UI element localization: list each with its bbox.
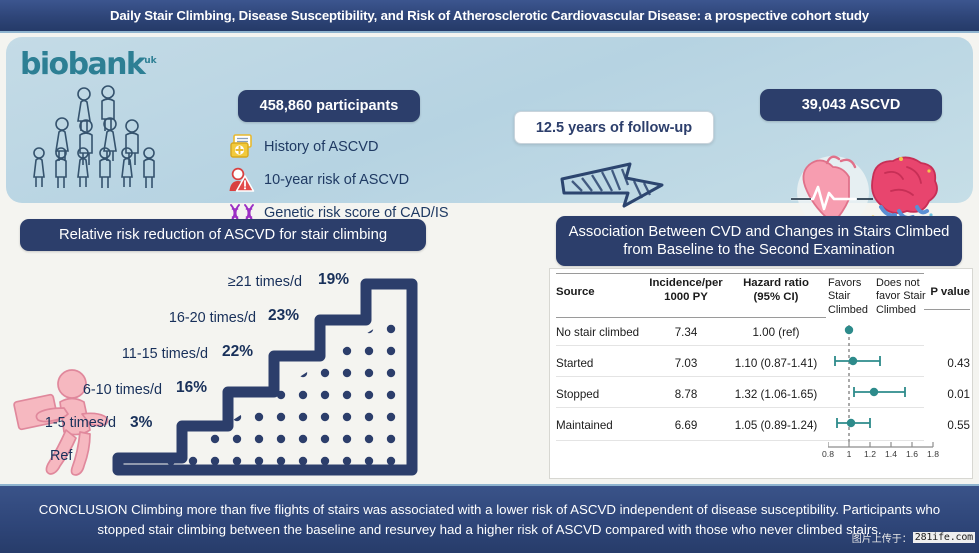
stair-climbing-chart-panel: Ref 1-5 times/d 6-10 times/d 11-15 times… (6, 208, 534, 480)
column-header-hazard-line1: Hazard ratio (724, 277, 828, 291)
axis-tick-1: 1 (847, 449, 852, 459)
column-header-hazard-ratio: Hazard ratio (95% CI) (724, 277, 828, 305)
column-header-incidence-line2: 1000 PY (648, 291, 724, 305)
notfavors-line1: Does not (876, 277, 926, 290)
axis-tick-4: 1.6 (906, 449, 918, 459)
cell-source: Started (556, 357, 648, 370)
forest-plot (828, 325, 938, 453)
column-header-forest-direction: Favors Stair Climbed Does not favor Stai… (828, 277, 924, 327)
column-header-pvalue: P value (924, 286, 970, 300)
followup-duration-badge: 12.5 years of follow-up (514, 111, 714, 144)
watermark-site-text: 281ife.com (913, 532, 975, 543)
list-item-label: History of ASCVD (264, 139, 378, 155)
page-title: Daily Stair Climbing, Disease Susceptibi… (110, 8, 869, 23)
cell-incidence: 7.03 (648, 357, 724, 370)
cell-source: Stopped (556, 388, 648, 401)
column-header-incidence-line1: Incidence/per (648, 277, 724, 291)
step-value-3: 22% (222, 343, 253, 361)
step-label-ref: Ref (50, 448, 120, 464)
list-item-label: 10-year risk of ASCVD (264, 172, 409, 188)
ascvd-events-badge: 39,043 ASCVD (760, 89, 942, 121)
forest-plot-table-panel: Source Incidence/per 1000 PY Hazard rati… (549, 268, 973, 479)
axis-tick-3: 1.4 (885, 449, 897, 459)
page-title-bar: Daily Stair Climbing, Disease Susceptibi… (0, 0, 979, 33)
forest-marker-maintained (847, 419, 855, 427)
favors-line1: Favors (828, 277, 873, 290)
forest-marker-reference (845, 326, 853, 334)
favors-stair-climbed-label: Favors Stair Climbed (828, 277, 873, 317)
favors-line2: Stair (828, 290, 873, 303)
list-item: 10-year risk of ASCVD (228, 165, 508, 195)
table-header-rule (556, 317, 826, 318)
cell-source: Maintained (556, 419, 648, 432)
cell-hazard-ratio: 1.10 (0.87-1.41) (724, 357, 828, 370)
column-header-hazard-line2: (95% CI) (724, 291, 828, 305)
step-value-5: 19% (318, 271, 349, 289)
cell-incidence: 7.34 (648, 326, 724, 339)
right-arrow-icon (558, 157, 670, 213)
column-header-incidence: Incidence/per 1000 PY (648, 277, 724, 305)
biobank-logo-text: biobank (20, 47, 144, 82)
notfavors-line2: favor Stair (876, 290, 926, 303)
step-label-3: 11-15 times/d (74, 346, 208, 362)
axis-tick-0: 0.8 (822, 449, 834, 459)
watermark: 图片上传于： 281ife.com (852, 530, 975, 545)
forest-axis (828, 442, 933, 447)
cell-incidence: 8.78 (648, 388, 724, 401)
conclusion-banner: CONCLUSION Climbing more than five fligh… (0, 484, 979, 553)
biobank-logo-sup: uk (144, 56, 156, 66)
step-label-2: 6-10 times/d (28, 382, 162, 398)
person-risk-warning-icon (228, 167, 258, 193)
step-value-2: 16% (176, 379, 207, 397)
step-label-1: 1-5 times/d (8, 415, 116, 431)
biobank-logo: biobankuk (20, 47, 185, 83)
participants-count-badge: 458,860 participants (238, 90, 420, 122)
step-value-4: 23% (268, 307, 299, 325)
does-not-favor-stair-climbed-label: Does not favor Stair Climbed (876, 277, 926, 317)
watermark-cn-text: 图片上传于： (852, 530, 912, 545)
right-panel-heading: Association Between CVD and Changes in S… (556, 216, 962, 266)
hazard-ratio-table: Source Incidence/per 1000 PY Hazard rati… (550, 269, 972, 478)
cell-hazard-ratio: 1.32 (1.06-1.65) (724, 388, 828, 401)
cell-hazard-ratio: 1.00 (ref) (724, 326, 828, 339)
cell-hazard-ratio: 1.05 (0.89-1.24) (724, 419, 828, 432)
step-label-5: ≥21 times/d (164, 274, 302, 290)
forest-marker-stopped (870, 388, 878, 396)
infographic-root: Daily Stair Climbing, Disease Susceptibi… (0, 0, 979, 553)
list-item: History of ASCVD (228, 132, 508, 162)
forest-ci-started (835, 356, 880, 366)
axis-tick-5: 1.8 (927, 449, 939, 459)
table-top-rule (556, 273, 924, 274)
step-value-1: 3% (130, 414, 152, 432)
study-overview-panel: biobankuk 458,860 participants 12.5 year… (6, 37, 973, 203)
favors-line3: Climbed (828, 304, 873, 317)
step-label-4: 16-20 times/d (118, 310, 256, 326)
table-header-rule-pvalue (924, 309, 970, 310)
conclusion-text: CONCLUSION Climbing more than five fligh… (22, 500, 957, 539)
forest-marker-started (849, 357, 857, 365)
forest-ci-stopped (854, 387, 905, 397)
medical-record-icon (228, 134, 258, 160)
cell-source: No stair climbed (556, 326, 648, 339)
people-group-icon (24, 85, 174, 190)
notfavors-line3: Climbed (876, 304, 926, 317)
axis-tick-2: 1.2 (864, 449, 876, 459)
cell-incidence: 6.69 (648, 419, 724, 432)
forest-axis-tick-labels: 0.8 1 1.2 1.4 1.6 1.8 (828, 449, 938, 463)
column-header-source: Source (556, 286, 648, 300)
